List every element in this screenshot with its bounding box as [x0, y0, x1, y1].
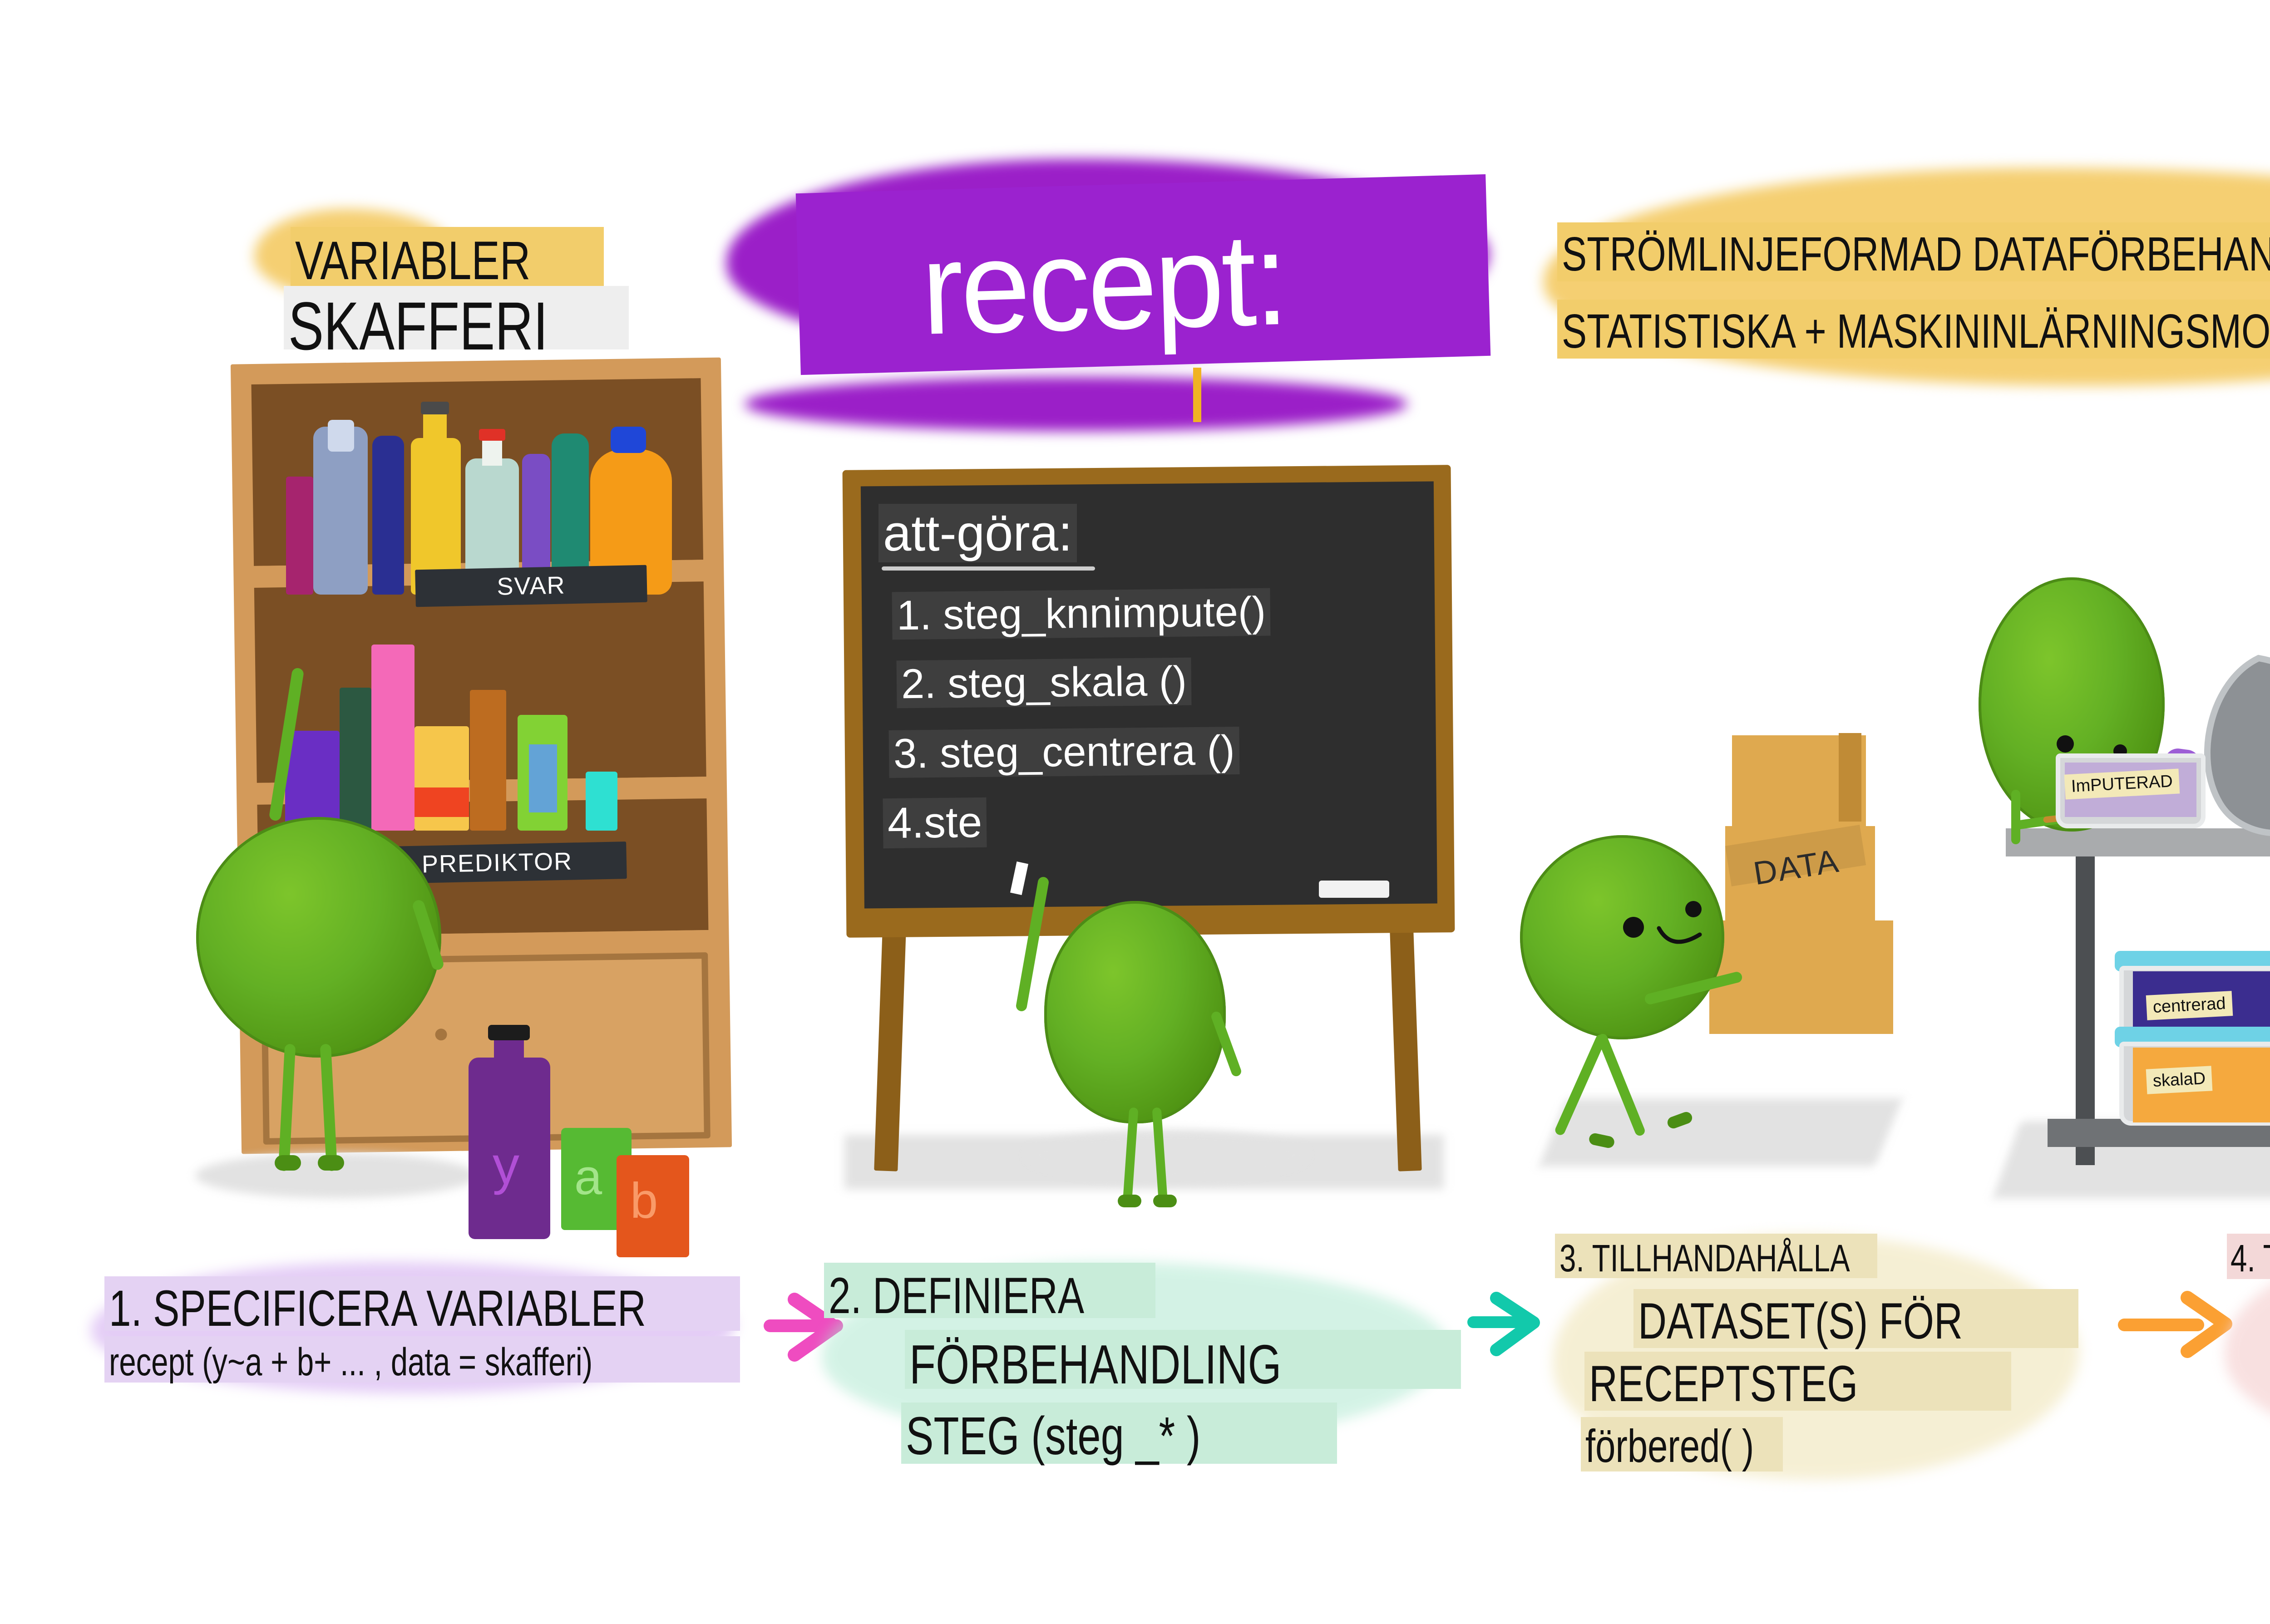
pantry-book-pink	[371, 645, 415, 831]
pantry-bottle-mint-cap	[479, 429, 505, 441]
pantry-bottle-yellow-cap	[421, 402, 449, 414]
pantry-bottle-grayblue	[313, 427, 368, 595]
bottle-y-label: y	[493, 1135, 519, 1196]
bottle-a-label: a	[574, 1148, 602, 1206]
chalkboard-heading-underline	[882, 566, 1095, 571]
container-imputerad-label: ImPUTERAD	[2071, 772, 2173, 796]
page-title: recept:	[919, 203, 1288, 364]
boxes-monster-eye-left	[1623, 917, 1644, 938]
chalkboard-item-4-label: 4.ste	[883, 797, 987, 848]
subtitle-line-2: STATISTISKA + MASKININLÄRNINGSMODELLER	[1562, 304, 2270, 359]
chalkboard-leg-right	[1389, 916, 1422, 1171]
pantry-label-bottom: SKAFFERI	[288, 287, 548, 365]
step-3-title-line-1: 3. TILLHANDAHÅLLA	[1559, 1236, 1850, 1280]
yellow-pin	[1193, 368, 1201, 422]
boxes-monster-eye-right	[1685, 901, 1702, 917]
step-2-title-line-1: 2. DEFINIERA	[829, 1266, 1084, 1325]
chalkboard-eraser[interactable]	[1319, 881, 1389, 898]
pantry-bottle-grayblue-neck	[328, 420, 354, 452]
chalkboard-item-2: 2. steg_skala ()	[896, 658, 1191, 709]
boxes-monster-shadow	[1539, 1098, 1903, 1166]
chalkboard-item-2-label: 2. steg_skala ()	[896, 658, 1191, 709]
pantry-bottle-magenta	[286, 477, 313, 595]
kitchen-monster-leg	[2011, 790, 2020, 844]
chalkboard-heading: att-göra:	[878, 504, 1077, 562]
chalkboard-heading-label: att-göra:	[878, 504, 1077, 562]
chalkboard-item-1: 1. steg_knnimpute()	[892, 588, 1270, 640]
container-skalad-sticker: skalaD	[2146, 1066, 2213, 1094]
shelf-tag-svar-label: SVAR	[497, 571, 566, 600]
chalkboard-monster-foot-right	[1153, 1195, 1177, 1207]
pantry-book-purple	[285, 731, 340, 831]
pantry-label-top: VARIABLER	[295, 229, 530, 292]
boxes-monster-smile	[1656, 924, 1711, 960]
chalkboard-monster-shadow	[1026, 1130, 1308, 1180]
step-3-code: förbered( )	[1585, 1420, 1754, 1473]
arrow-step2-to-step3-head	[1484, 1290, 1552, 1358]
step-2-code: STEG (steg _* )	[906, 1405, 1201, 1467]
chalkboard-item-3-label: 3. steg_centrera ()	[888, 727, 1239, 778]
container-skalad-label: skalaD	[2152, 1069, 2206, 1091]
data-box-top-side	[1839, 733, 1861, 822]
pantry-can-yellow-band	[415, 787, 469, 817]
pantry-monster-foot-left	[275, 1155, 301, 1171]
step-3-title-line-2: DATASET(S) FÖR	[1638, 1292, 1963, 1350]
kitchen-monster-eye-left	[2057, 735, 2074, 753]
pantry-can-cyan	[586, 772, 617, 831]
chalkboard-monster-body	[1044, 901, 1226, 1123]
purple-brush-underline	[745, 377, 1407, 431]
shelf-tag-svar: SVAR	[415, 565, 647, 607]
bottle-y-cap	[488, 1025, 530, 1040]
illustration-canvas: recept: STRÖMLINJEFORMAD DATAFÖRBEHANDLI…	[0, 0, 2270, 1624]
pantry-monster-body	[196, 817, 441, 1058]
pantry-can-lime-band	[529, 744, 557, 812]
shelf-tag-prediktor-label: PREDIKTOR	[421, 848, 572, 878]
chalkboard-item-4: 4.ste	[883, 797, 987, 848]
chalkboard-monster-foot-left	[1118, 1195, 1141, 1207]
step-2-title-line-2: FÖRBEHANDLING	[909, 1333, 1282, 1396]
pantry-bottle-orange-cap	[611, 427, 646, 453]
step-1-code: recept (y~a + b+ ... , data = skafferi)	[109, 1340, 592, 1385]
step-4-title-line-1: 4. TILLÄMPA	[2231, 1236, 2270, 1280]
step-1-title: 1. SPECIFICERA VARIABLER	[109, 1279, 646, 1338]
chalkboard-item-3: 3. steg_centrera ()	[888, 727, 1239, 778]
step-3-title-line-3: RECEPTSTEG	[1589, 1354, 1858, 1413]
pantry-monster-foot-right	[318, 1155, 344, 1171]
subtitle-line-1: STRÖMLINJEFORMAD DATAFÖRBEHANDLING FÖR	[1562, 227, 2270, 282]
pantry-book-darkgreen	[340, 688, 371, 831]
pantry-book-brown	[470, 690, 506, 831]
chalkboard-item-1-label: 1. steg_knnimpute()	[892, 588, 1270, 640]
pantry-bottle-navy	[372, 436, 404, 595]
chalkboard-leg-left	[874, 916, 907, 1171]
bottle-b-label: b	[630, 1172, 658, 1230]
container-centrerad-sticker: centrerad	[2146, 991, 2233, 1020]
container-centrerad-label: centrerad	[2152, 994, 2226, 1017]
